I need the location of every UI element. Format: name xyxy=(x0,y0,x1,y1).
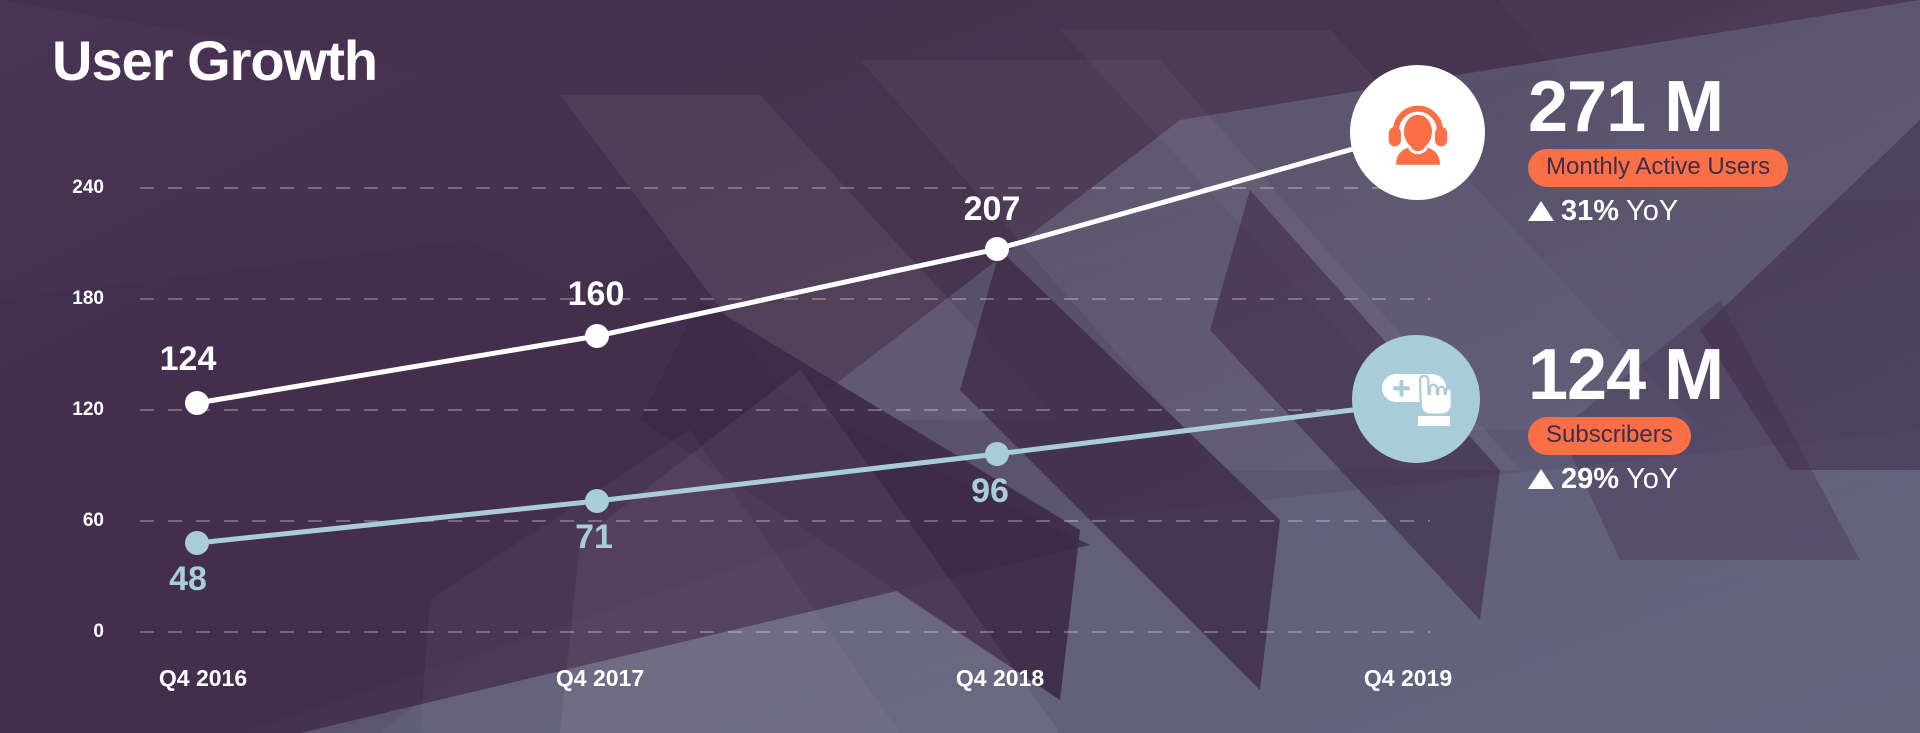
x-axis-tick: Q4 2018 xyxy=(956,665,1044,692)
page-title: User Growth xyxy=(52,28,377,93)
stat-pill-subscribers: Subscribers xyxy=(1528,417,1691,455)
callout-circle-mau xyxy=(1350,65,1485,200)
subscribe-click-icon xyxy=(1376,364,1456,434)
y-axis-tick: 0 xyxy=(34,621,104,643)
gridlines xyxy=(140,188,1430,632)
data-label-mau: 160 xyxy=(568,275,625,314)
data-label-subscribers: 48 xyxy=(169,560,207,599)
y-axis-tick: 120 xyxy=(34,399,104,421)
data-label-subscribers: 71 xyxy=(575,518,613,557)
x-axis-tick: Q4 2016 xyxy=(159,665,247,692)
up-arrow-icon xyxy=(1528,201,1554,221)
y-axis-tick: 180 xyxy=(34,288,104,310)
delta-suffix-mau: YoY xyxy=(1626,195,1678,228)
headset-user-icon xyxy=(1379,94,1457,172)
data-label-subscribers: 96 xyxy=(971,472,1009,511)
stat-block-subscribers: 124 M Subscribers 29% YoY xyxy=(1528,340,1723,496)
stat-delta-subscribers: 29% YoY xyxy=(1528,463,1723,496)
infographic-canvas: User Growth 240 180 120 60 0 Q4 2016 xyxy=(0,0,1920,733)
stat-delta-mau: 31% YoY xyxy=(1528,195,1788,228)
stat-pill-mau: Monthly Active Users xyxy=(1528,149,1788,187)
up-arrow-icon xyxy=(1528,469,1554,489)
callout-circle-subscribers xyxy=(1352,335,1480,463)
data-label-mau: 207 xyxy=(964,190,1021,229)
stat-block-mau: 271 M Monthly Active Users 31% YoY xyxy=(1528,72,1788,228)
y-axis-tick: 60 xyxy=(34,510,104,532)
x-axis-tick: Q4 2019 xyxy=(1364,665,1452,692)
delta-percent-subscribers: 29% xyxy=(1561,463,1619,496)
stat-value-subscribers: 124 M xyxy=(1528,340,1723,411)
delta-suffix-subscribers: YoY xyxy=(1626,463,1678,496)
y-axis-tick: 240 xyxy=(34,177,104,199)
series-monthly-active-users xyxy=(185,131,1417,415)
series-subscribers xyxy=(185,402,1417,555)
delta-percent-mau: 31% xyxy=(1561,195,1619,228)
data-label-mau: 124 xyxy=(160,340,217,379)
stat-value-mau: 271 M xyxy=(1528,72,1788,143)
x-axis-tick: Q4 2017 xyxy=(556,665,644,692)
